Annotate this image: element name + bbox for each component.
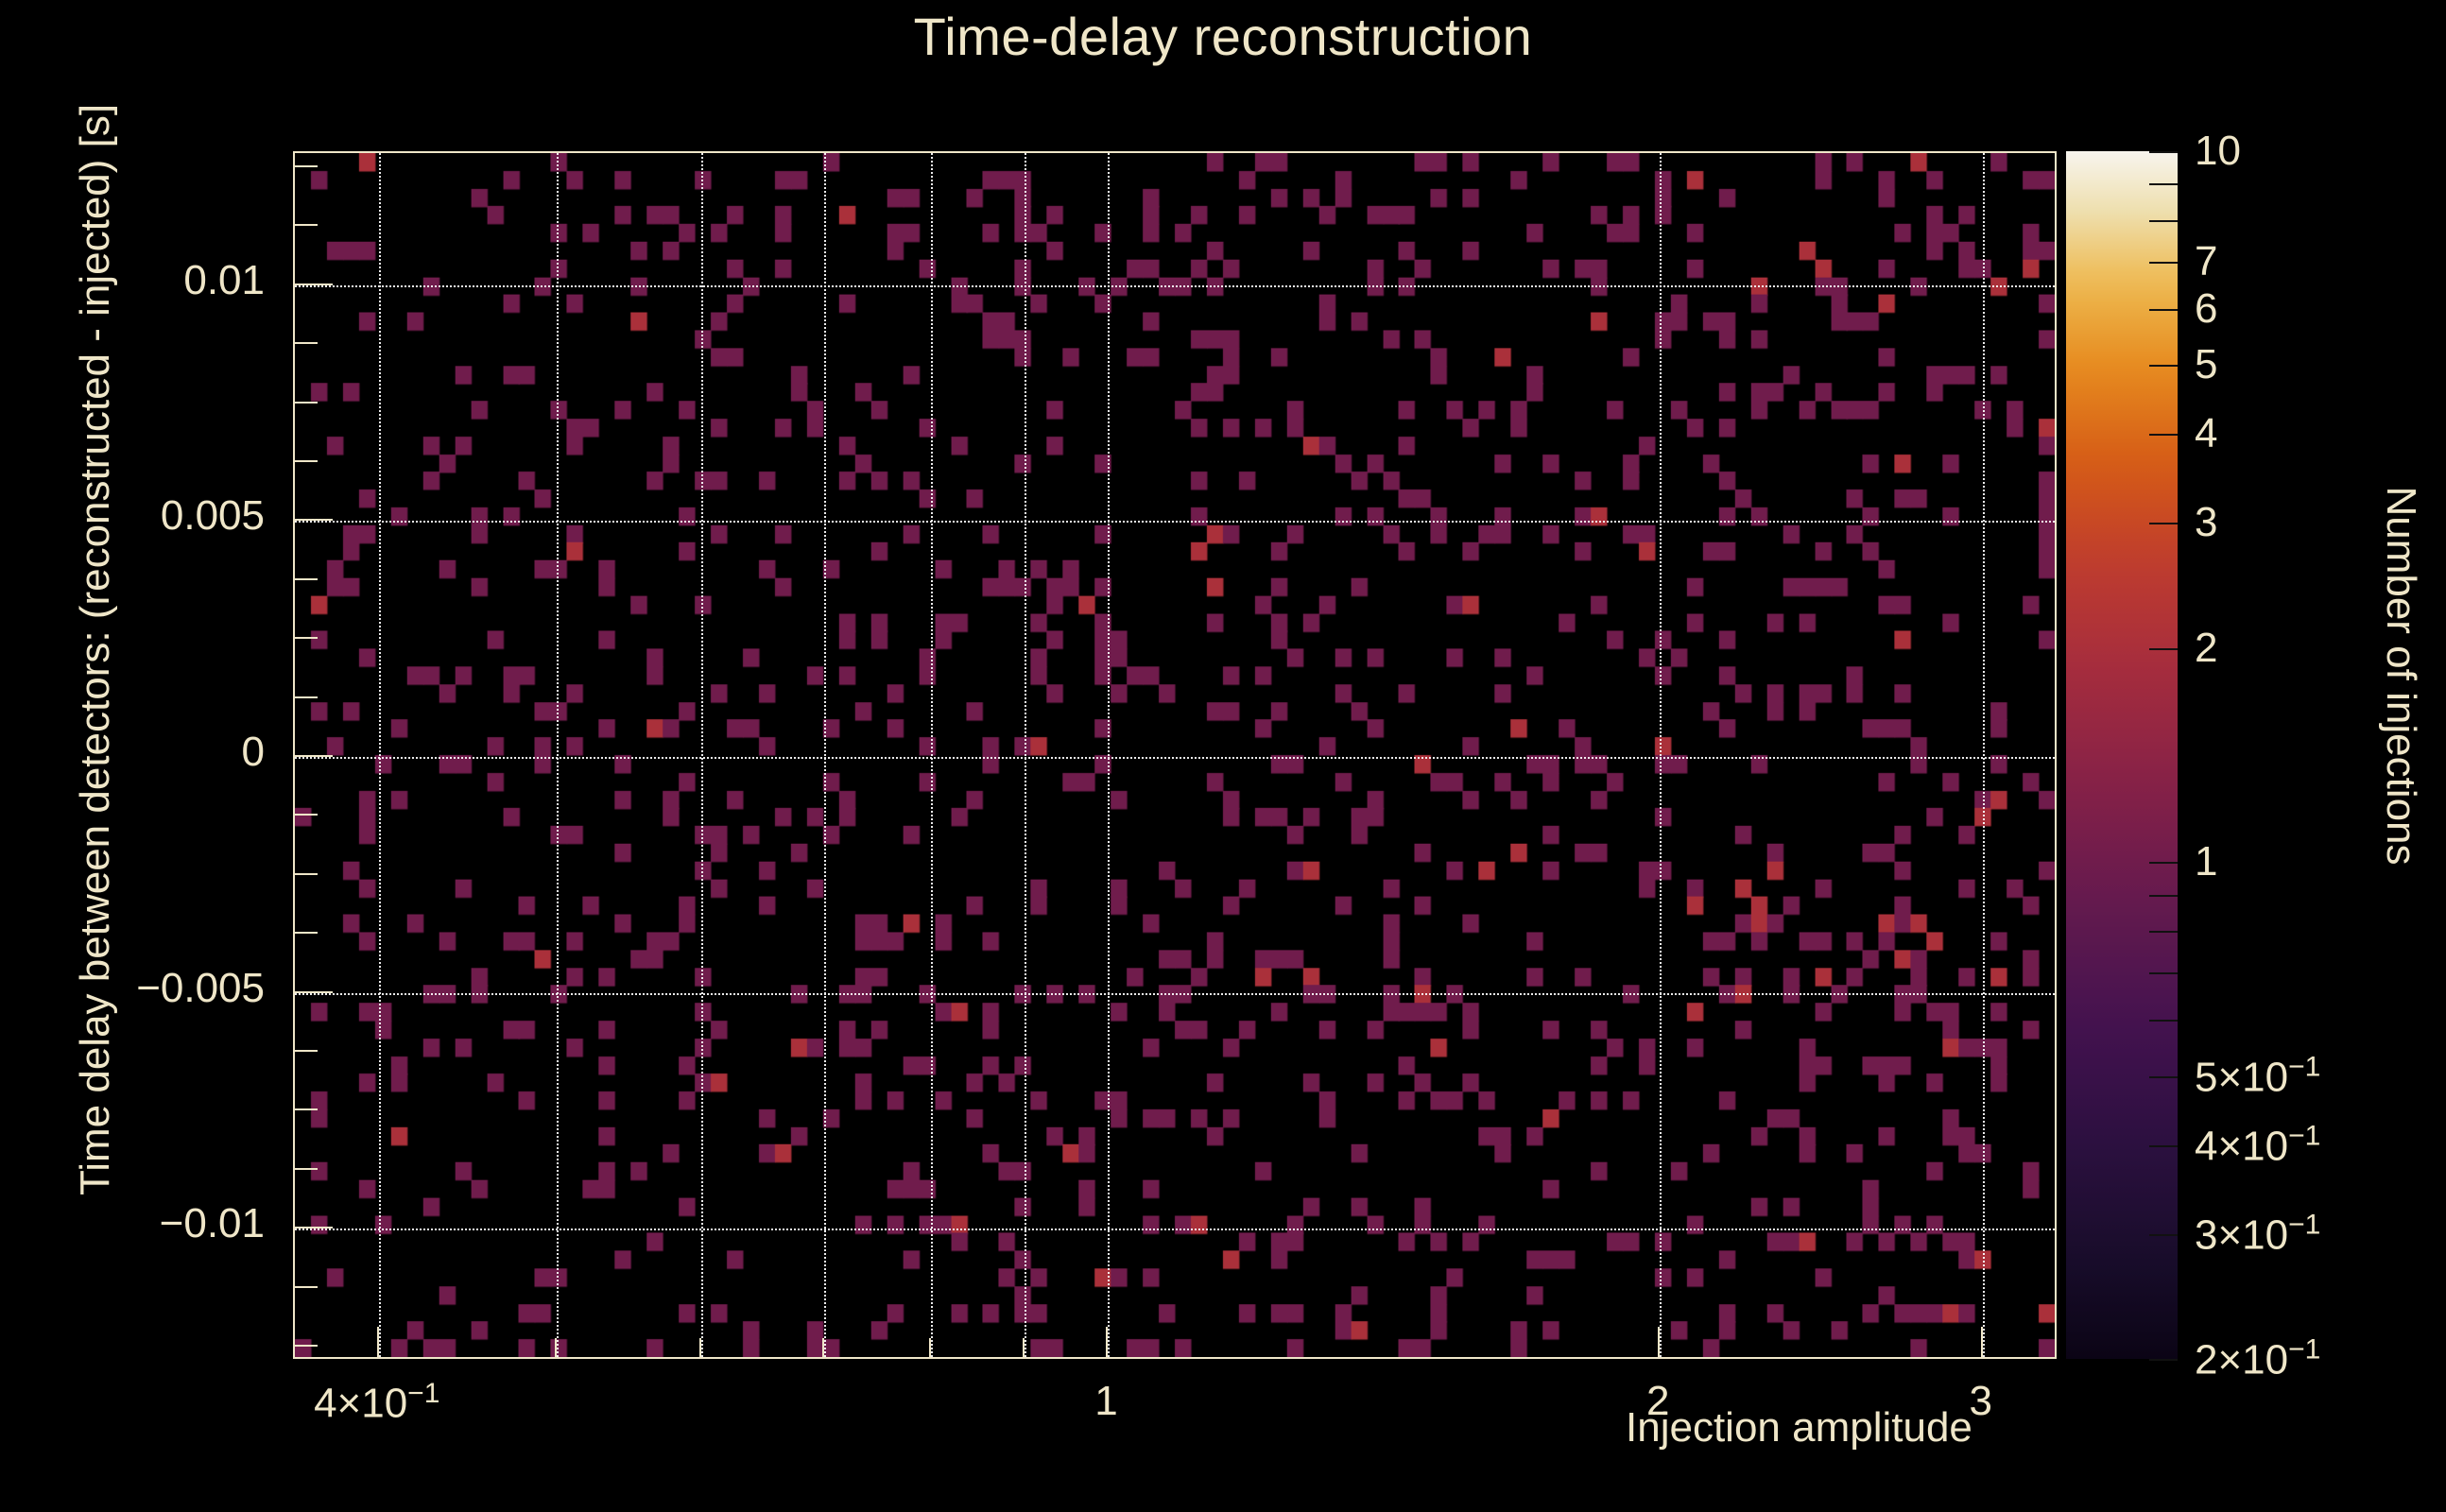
page-title: Time-delay reconstruction — [0, 6, 2446, 67]
colorbar-tick — [2149, 895, 2178, 897]
y-axis-minor-tick — [293, 165, 318, 167]
x-axis-tick-label: 3 — [1969, 1378, 1991, 1425]
colorbar-tick — [2149, 1145, 2178, 1147]
y-axis-minor-tick — [293, 1168, 318, 1170]
y-axis-title: Time delay between detectors: (reconstru… — [72, 288, 119, 1195]
x-axis-minor-tick — [1023, 1338, 1025, 1359]
y-axis-minor-tick — [293, 224, 318, 226]
colorbar-tick — [2149, 1020, 2178, 1022]
y-axis-major-tick — [293, 519, 333, 521]
y-axis-tick-label: 0 — [19, 729, 265, 776]
y-axis-major-tick — [293, 755, 333, 757]
colorbar-tick-label: 5×10−1 — [2195, 1051, 2320, 1101]
y-axis-tick-label: 0.01 — [19, 257, 265, 304]
y-axis-major-tick — [293, 1227, 333, 1228]
colorbar-tick-exponent: −1 — [2288, 1120, 2320, 1151]
colorbar-tick — [2149, 183, 2178, 185]
colorbar-tick — [2149, 1076, 2178, 1078]
x-axis-minor-tick — [822, 1338, 824, 1359]
x-axis-title: Injection amplitude — [1626, 1404, 1972, 1452]
colorbar-tick — [2149, 434, 2178, 436]
colorbar-tick-mantissa: 6 — [2195, 285, 2217, 332]
y-axis-minor-tick — [293, 460, 318, 462]
colorbar-tick-mantissa: 7 — [2195, 238, 2217, 284]
y-axis-major-tick — [293, 991, 333, 993]
figure-canvas: Time-delay reconstruction 0.010.0050−0.0… — [0, 0, 2446, 1512]
colorbar-tick — [2149, 862, 2178, 864]
colorbar-tick-mantissa: 1 — [2195, 838, 2217, 885]
y-axis-minor-tick — [293, 578, 318, 580]
colorbar-tick-label: 1 — [2195, 838, 2217, 885]
colorbar-tick-label: 4 — [2195, 410, 2217, 457]
y-axis-minor-tick — [293, 1108, 318, 1110]
colorbar-tick-label: 4×10−1 — [2195, 1120, 2320, 1170]
colorbar-tick — [2149, 262, 2178, 264]
y-axis-minor-tick — [293, 402, 318, 404]
colorbar-tick — [2149, 523, 2178, 524]
colorbar-tick-mantissa: 10 — [2195, 128, 2241, 174]
colorbar-tick-mantissa: 3×10 — [2195, 1211, 2288, 1258]
colorbar-tick — [2149, 151, 2178, 153]
colorbar-title: Number of injections — [2377, 288, 2424, 1063]
colorbar-tick-mantissa: 3 — [2195, 499, 2217, 545]
colorbar-tick-label: 6 — [2195, 285, 2217, 333]
y-axis-minor-tick — [293, 637, 318, 639]
x-axis-minor-tick — [699, 1338, 701, 1359]
heatmap-canvas — [295, 153, 2055, 1357]
x-axis-major-tick — [1658, 1327, 1660, 1359]
x-tick-mantissa: 3 — [1969, 1378, 1991, 1424]
y-axis-tick-label: −0.005 — [19, 965, 265, 1012]
colorbar[interactable] — [2066, 151, 2178, 1359]
y-axis-minor-tick — [293, 696, 318, 698]
y-axis-minor-tick — [293, 1050, 318, 1052]
colorbar-tick-mantissa: 2 — [2195, 625, 2217, 671]
colorbar-tick — [2149, 972, 2178, 974]
y-axis-minor-tick — [293, 1345, 318, 1347]
colorbar-tick-mantissa: 4 — [2195, 410, 2217, 456]
colorbar-tick — [2149, 931, 2178, 933]
colorbar-tick — [2149, 1359, 2178, 1361]
colorbar-tick — [2149, 648, 2178, 650]
y-axis-minor-tick — [293, 1286, 318, 1288]
y-axis-minor-tick — [293, 342, 318, 344]
colorbar-tick-exponent: −1 — [2288, 1209, 2320, 1240]
colorbar-tick-label: 3 — [2195, 499, 2217, 546]
colorbar-tick-label: 2 — [2195, 625, 2217, 672]
colorbar-tick-label: 3×10−1 — [2195, 1209, 2320, 1259]
x-axis-major-tick — [377, 1327, 379, 1359]
x-axis-major-tick — [1981, 1327, 1983, 1359]
colorbar-tick-label: 7 — [2195, 238, 2217, 285]
colorbar-tick — [2149, 365, 2178, 367]
x-axis-tick-label: 1 — [1094, 1378, 1117, 1425]
y-axis-major-tick — [293, 283, 333, 285]
x-tick-mantissa: 1 — [1094, 1378, 1117, 1424]
colorbar-tick — [2149, 220, 2178, 222]
colorbar-tick-mantissa: 5×10 — [2195, 1054, 2288, 1100]
colorbar-tick-label: 2×10−1 — [2195, 1334, 2320, 1384]
colorbar-tick-label: 5 — [2195, 341, 2217, 388]
y-axis-minor-tick — [293, 932, 318, 934]
x-tick-mantissa: 4×10 — [314, 1381, 407, 1427]
y-axis-tick-label: 0.005 — [19, 492, 265, 540]
y-axis-tick-label: −0.01 — [19, 1200, 265, 1247]
colorbar-tick-mantissa: 5 — [2195, 341, 2217, 387]
x-axis-minor-tick — [555, 1338, 557, 1359]
plot-area[interactable] — [293, 151, 2057, 1359]
x-axis-minor-tick — [929, 1338, 931, 1359]
y-axis-minor-tick — [293, 814, 318, 816]
colorbar-tick-mantissa: 4×10 — [2195, 1123, 2288, 1169]
colorbar-tick — [2149, 309, 2178, 311]
colorbar-tick-exponent: −1 — [2288, 1334, 2320, 1366]
y-axis-minor-tick — [293, 873, 318, 875]
colorbar-gradient — [2066, 151, 2178, 1359]
x-axis-major-tick — [1106, 1327, 1108, 1359]
x-tick-exponent: −1 — [407, 1378, 439, 1409]
colorbar-tick-label: 10 — [2195, 128, 2241, 175]
x-axis-tick-label: 4×10−1 — [314, 1378, 439, 1428]
colorbar-tick-exponent: −1 — [2288, 1051, 2320, 1082]
colorbar-tick — [2149, 1234, 2178, 1236]
colorbar-tick-mantissa: 2×10 — [2195, 1336, 2288, 1383]
